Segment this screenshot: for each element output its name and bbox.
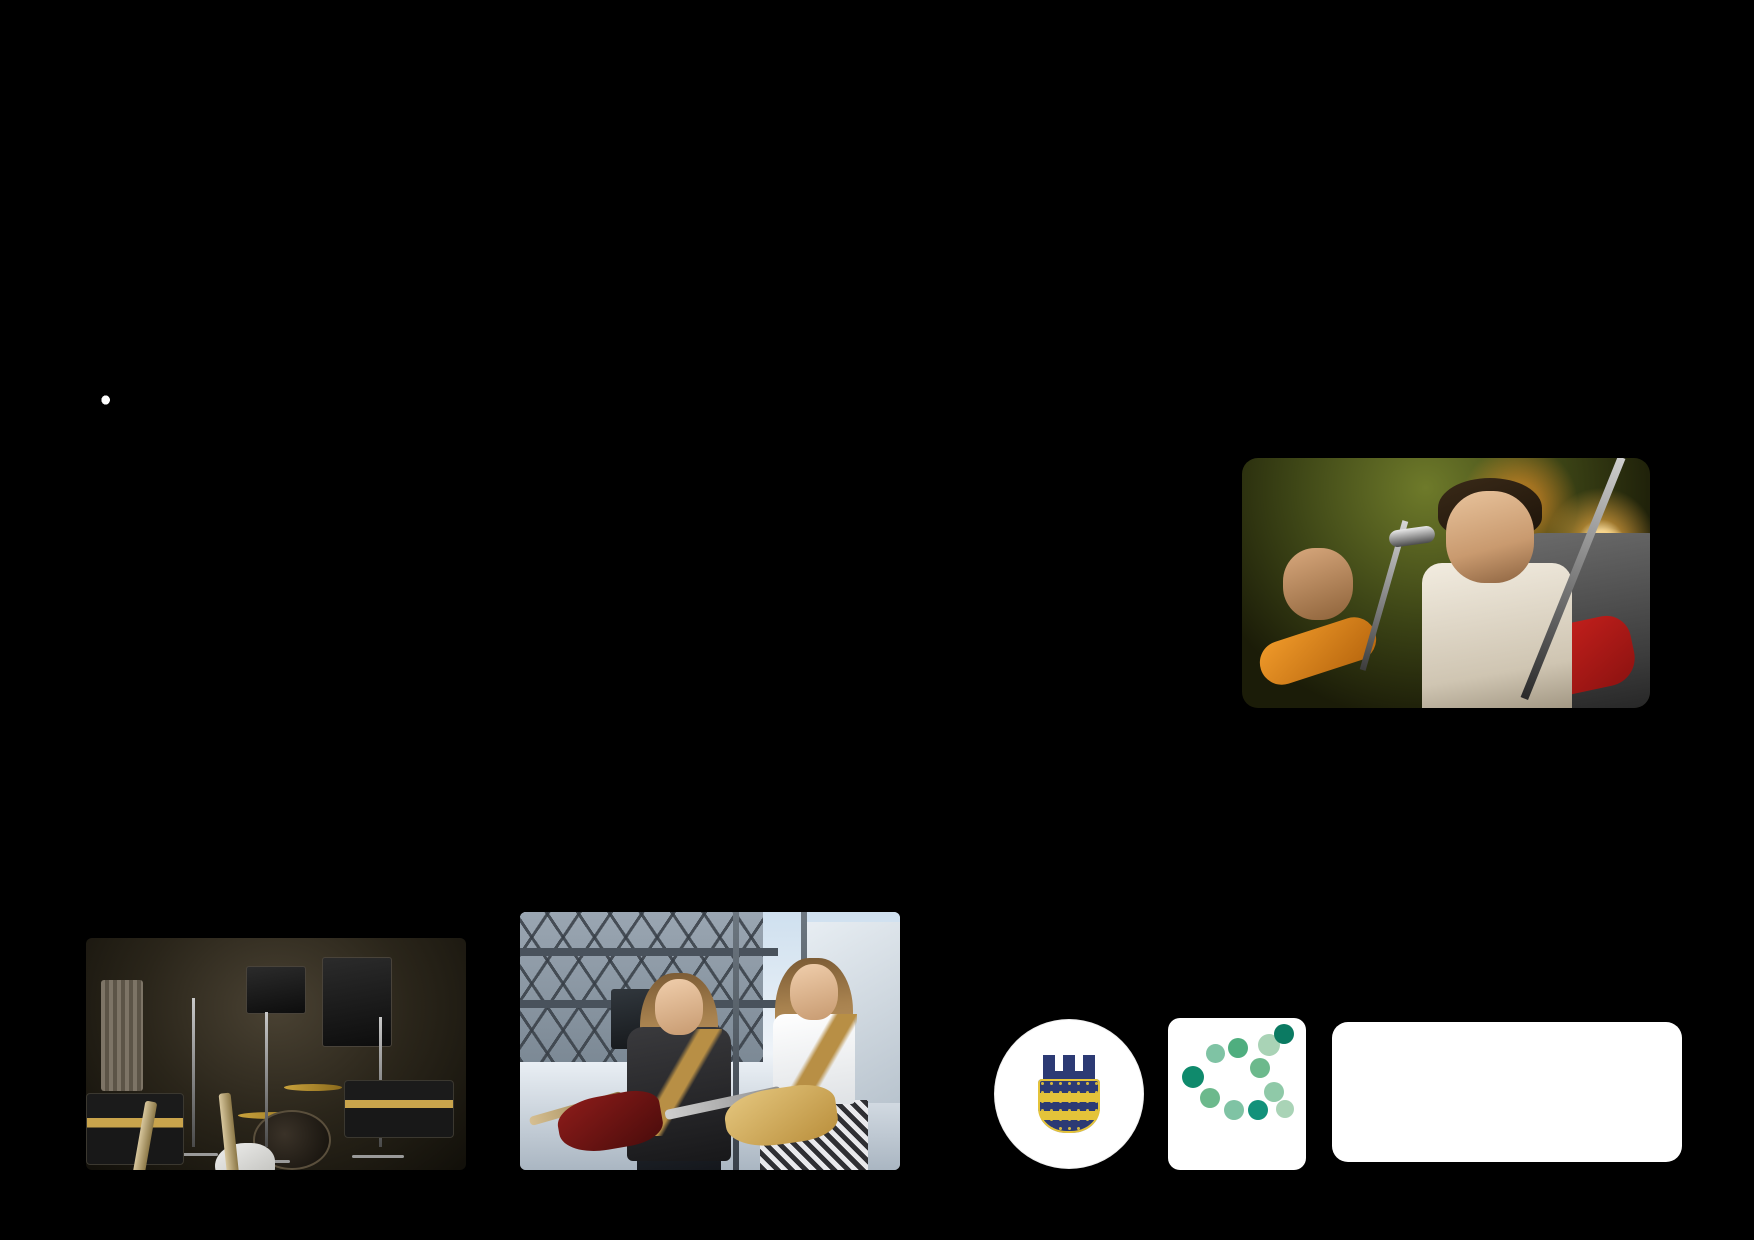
okehampton-united-charity-logo	[995, 1020, 1143, 1168]
photo-rehearsal-room-equipment	[86, 938, 466, 1170]
mic-stand-base	[352, 1155, 404, 1158]
bullet-icon	[102, 396, 110, 405]
microphone	[1388, 525, 1436, 548]
dot	[1182, 1066, 1204, 1088]
body-copy	[96, 374, 1226, 400]
babcock-ldp-logo	[1168, 1018, 1306, 1170]
ocra-logo	[1332, 1022, 1682, 1162]
pa-speaker	[246, 966, 306, 1014]
dot	[1200, 1088, 1220, 1108]
dot	[1276, 1100, 1294, 1118]
shield-icon	[1038, 1079, 1100, 1133]
guitar-amplifier	[344, 1080, 454, 1138]
dot	[1228, 1038, 1248, 1058]
castle-turrets-icon	[1043, 1055, 1095, 1081]
dot	[1206, 1044, 1225, 1063]
acoustic-wall-panel	[101, 980, 143, 1091]
stage-truss-bar	[520, 948, 778, 956]
dot	[1250, 1058, 1270, 1078]
dot	[1248, 1100, 1268, 1120]
mic-stand	[192, 998, 195, 1146]
dot	[1224, 1100, 1244, 1120]
shield-pattern	[1038, 1079, 1100, 1133]
cymbal	[284, 1084, 342, 1091]
photo-two-girls-with-guitars	[520, 912, 900, 1170]
babcock-dot-cluster-icon	[1178, 1026, 1296, 1118]
poster-canvas	[0, 0, 1754, 1240]
coat-of-arms-icon	[1038, 1055, 1100, 1133]
singer-head	[1446, 491, 1534, 583]
face	[655, 979, 703, 1035]
mic-stand	[265, 1012, 268, 1147]
photo-band-performing-on-stage	[1242, 458, 1650, 708]
face	[790, 964, 838, 1020]
bassist-figure	[1283, 548, 1353, 620]
dot	[1274, 1024, 1294, 1044]
bass-guitar-shape	[1254, 612, 1382, 691]
dot	[1264, 1082, 1284, 1102]
